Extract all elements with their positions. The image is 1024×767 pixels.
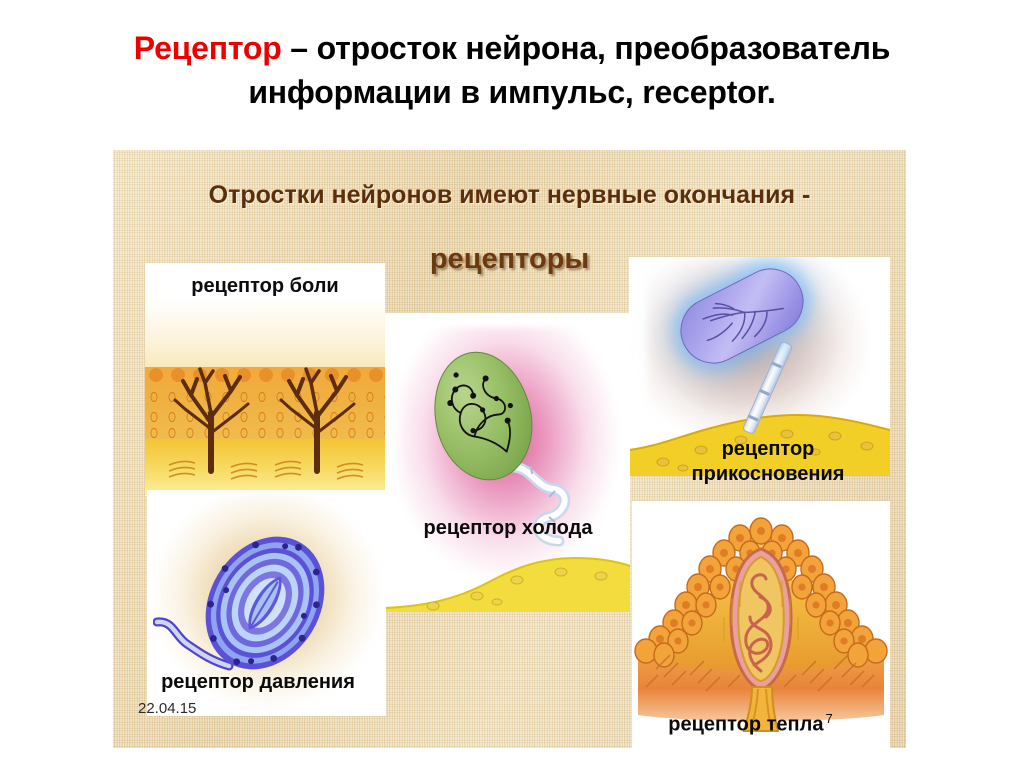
title-rest: отросток нейрона, преобразователь [317, 30, 891, 66]
title-dash: – [282, 30, 317, 66]
cold-nerve-fiber [505, 463, 601, 559]
panel-label-pressure: рецептор давления [133, 670, 383, 695]
title-keyword: Рецептор [134, 30, 282, 66]
panel-label-touch: рецептор прикосновения [643, 437, 893, 487]
panel-label-warm: рецептор тепла7 [628, 706, 873, 738]
panel-label-cold: рецептор холода [385, 516, 631, 541]
panel-cold-receptor [385, 313, 630, 612]
panel-label-warm-text: рецептор тепла [668, 714, 823, 736]
panel-pain-receptor: рецептор боли [145, 263, 385, 496]
slide-number: 7 [825, 711, 832, 726]
figure-headline-line-1: Отростки нейронов имеют нервные окончани… [113, 178, 906, 212]
panel-label-pain: рецептор боли [145, 273, 385, 299]
page-title: Рецептор – отросток нейрона, преобразова… [0, 26, 1024, 114]
title-line-2: информации в импульс, receptor. [30, 70, 994, 114]
date-stamp: 22.04.15 [138, 700, 196, 717]
receptors-figure: Отростки нейронов имеют нервные окончани… [113, 150, 906, 748]
